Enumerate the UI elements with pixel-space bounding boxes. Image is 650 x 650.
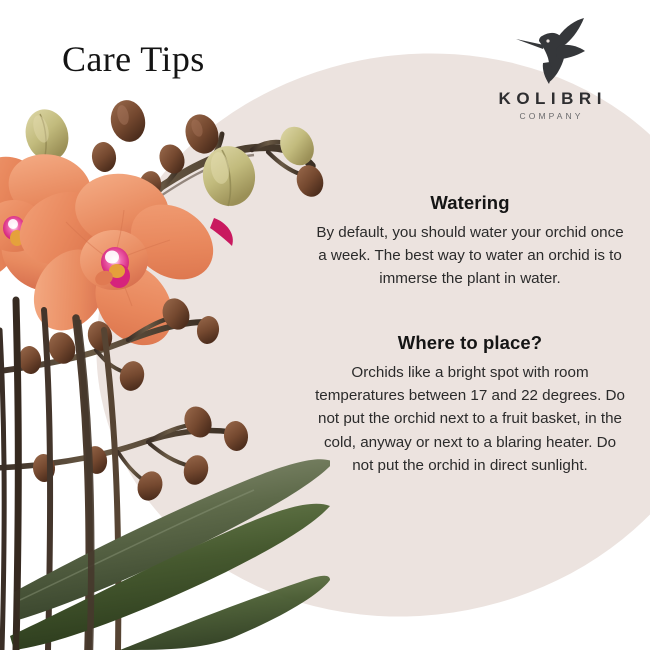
section-body-watering: By default, you should water your orchid… — [312, 221, 628, 290]
care-tips-content: Watering By default, you should water yo… — [312, 192, 628, 477]
section-watering: Watering By default, you should water yo… — [312, 192, 628, 290]
brand-subtitle: COMPANY — [480, 112, 620, 121]
section-where-to-place: Where to place? Orchids like a bright sp… — [312, 332, 628, 476]
hummingbird-icon — [514, 18, 586, 84]
section-heading-where-to-place: Where to place? — [312, 332, 628, 354]
page-title: Care Tips — [62, 38, 205, 80]
orchid-illustration — [0, 0, 330, 650]
section-body-where-to-place: Orchids like a bright spot with room tem… — [312, 361, 628, 476]
brand-name: KOLIBRI — [480, 90, 620, 108]
brand-logo: KOLIBRI COMPANY — [480, 18, 620, 121]
care-tips-card: Care Tips KOLIBRI COMPANY Watering By de… — [0, 0, 650, 650]
section-heading-watering: Watering — [312, 192, 628, 214]
